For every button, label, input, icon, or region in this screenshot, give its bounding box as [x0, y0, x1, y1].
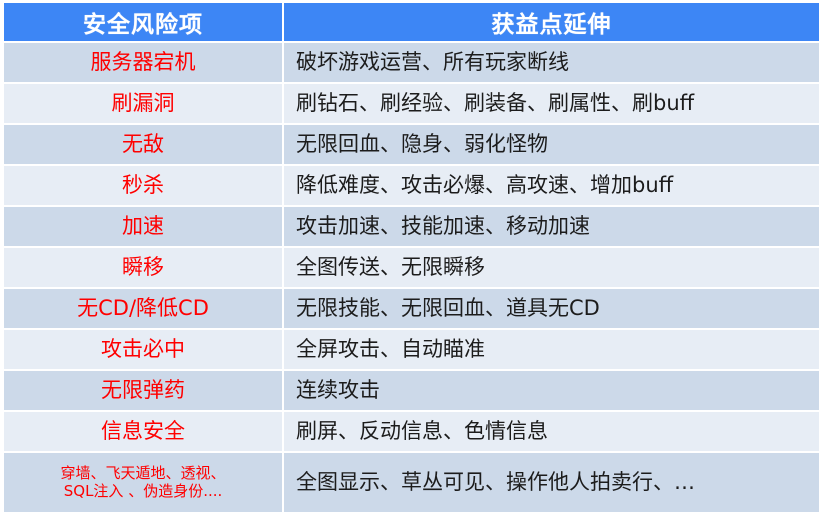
table-header: 安全风险项 获益点延伸 [4, 3, 819, 42]
table-row: 刷漏洞刷钻石、刷经验、刷装备、刷属性、刷buff [4, 83, 819, 124]
risk-cell: 秒杀 [4, 165, 283, 206]
risk-cell: 刷漏洞 [4, 83, 283, 124]
benefit-cell: 刷屏、反动信息、色情信息 [283, 411, 819, 452]
column-header-risk: 安全风险项 [4, 3, 283, 42]
risk-table-container: 安全风险项 获益点延伸 服务器宕机破坏游戏运营、所有玩家断线刷漏洞刷钻石、刷经验… [0, 0, 825, 500]
risk-cell: 无限弹药 [4, 370, 283, 411]
header-row: 安全风险项 获益点延伸 [4, 3, 819, 42]
benefit-cell: 无限回血、隐身、弱化怪物 [283, 124, 819, 165]
risk-cell: 信息安全 [4, 411, 283, 452]
column-header-benefit: 获益点延伸 [283, 3, 819, 42]
risk-cell: 无敌 [4, 124, 283, 165]
table-row: 无CD/降低CD无限技能、无限回血、道具无CD [4, 288, 819, 329]
table-row: 穿墙、飞天遁地、透视、 SQL注入 、伪造身份....全图显示、草丛可见、操作他… [4, 452, 819, 512]
benefit-cell: 全图显示、草丛可见、操作他人拍卖行、… [283, 452, 819, 512]
benefit-cell: 全屏攻击、自动瞄准 [283, 329, 819, 370]
benefit-cell: 降低难度、攻击必爆、高攻速、增加buff [283, 165, 819, 206]
benefit-cell: 无限技能、无限回血、道具无CD [283, 288, 819, 329]
table-row: 加速攻击加速、技能加速、移动加速 [4, 206, 819, 247]
table-row: 秒杀降低难度、攻击必爆、高攻速、增加buff [4, 165, 819, 206]
benefit-cell: 连续攻击 [283, 370, 819, 411]
benefit-cell: 破坏游戏运营、所有玩家断线 [283, 42, 819, 83]
benefit-cell: 刷钻石、刷经验、刷装备、刷属性、刷buff [283, 83, 819, 124]
table-row: 无限弹药连续攻击 [4, 370, 819, 411]
risk-cell: 穿墙、飞天遁地、透视、 SQL注入 、伪造身份.... [4, 452, 283, 512]
table-row: 服务器宕机破坏游戏运营、所有玩家断线 [4, 42, 819, 83]
benefit-cell: 全图传送、无限瞬移 [283, 247, 819, 288]
risk-cell: 加速 [4, 206, 283, 247]
table-row: 信息安全刷屏、反动信息、色情信息 [4, 411, 819, 452]
table-row: 瞬移全图传送、无限瞬移 [4, 247, 819, 288]
table-row: 无敌无限回血、隐身、弱化怪物 [4, 124, 819, 165]
table-body: 服务器宕机破坏游戏运营、所有玩家断线刷漏洞刷钻石、刷经验、刷装备、刷属性、刷bu… [4, 42, 819, 512]
benefit-cell: 攻击加速、技能加速、移动加速 [283, 206, 819, 247]
security-risk-table: 安全风险项 获益点延伸 服务器宕机破坏游戏运营、所有玩家断线刷漏洞刷钻石、刷经验… [4, 3, 819, 512]
risk-cell: 服务器宕机 [4, 42, 283, 83]
risk-cell: 无CD/降低CD [4, 288, 283, 329]
table-row: 攻击必中全屏攻击、自动瞄准 [4, 329, 819, 370]
risk-cell: 瞬移 [4, 247, 283, 288]
risk-cell: 攻击必中 [4, 329, 283, 370]
